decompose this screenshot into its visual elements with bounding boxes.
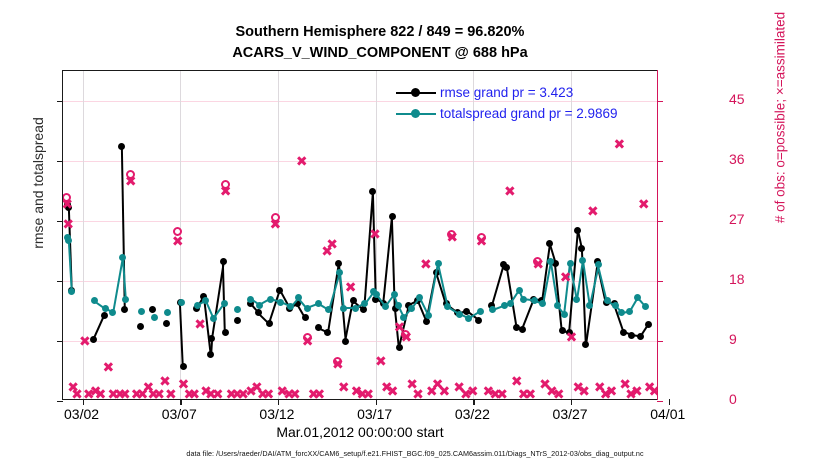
obs-assimilated-marker: ✖: [613, 139, 624, 150]
legend-marker-rmse: [396, 92, 436, 94]
obs-assimilated-marker: ✖: [566, 332, 577, 343]
obs-assimilated-marker: ✖: [188, 389, 199, 399]
totalspread-data-point: [164, 309, 171, 316]
totalspread-data-point: [456, 311, 463, 318]
totalspread-data-point: [626, 308, 633, 315]
rmse-data-point: [637, 333, 644, 340]
totalspread-data-point: [221, 300, 228, 307]
y-axis-tick-left: [57, 341, 63, 342]
obs-possible-marker: [173, 227, 182, 236]
obs-possible-marker: [333, 357, 342, 366]
obs-assimilated-marker: ✖: [338, 382, 349, 393]
rmse-data-point: [180, 363, 187, 370]
x-axis-tick-label: 03/02: [52, 406, 112, 422]
obs-assimilated-marker: ✖: [263, 389, 274, 399]
y-axis-tick-left: [57, 161, 63, 162]
rmse-data-point: [503, 264, 510, 271]
totalspread-data-point: [68, 288, 75, 295]
totalspread-data-point: [516, 287, 523, 294]
totalspread-data-point: [277, 299, 284, 306]
y-axis-label-right: # of obs: o=possible; ×=assimilated: [773, 0, 788, 258]
y-axis-tick-right: [657, 221, 663, 222]
rmse-data-point: [423, 318, 430, 325]
y-axis-tick-label-right: 9: [729, 331, 769, 347]
totalspread-data-point: [477, 308, 484, 315]
rmse-data-point: [324, 329, 331, 336]
horizontal-gridline: [63, 161, 657, 162]
totalspread-data-point: [267, 296, 274, 303]
series-line-segment: [122, 257, 127, 299]
chart-title: Southern Hemisphere 822 / 849 = 96.820% …: [0, 22, 760, 64]
obs-assimilated-marker: ✖: [369, 229, 380, 240]
obs-assimilated-marker: ✖: [511, 376, 522, 387]
rmse-data-point: [342, 338, 349, 345]
totalspread-data-point: [119, 254, 126, 261]
totalspread-data-point: [465, 315, 472, 322]
totalspread-data-point: [210, 315, 217, 322]
rmse-data-point: [276, 287, 283, 294]
totalspread-data-point: [507, 300, 514, 307]
totalspread-data-point: [352, 305, 359, 312]
obs-assimilated-marker: ✖: [553, 389, 564, 399]
totalspread-data-point: [554, 302, 561, 309]
rmse-data-point: [360, 306, 367, 313]
rmse-data-point: [207, 351, 214, 358]
y-axis-tick-left: [57, 101, 63, 102]
obs-assimilated-marker: ✖: [95, 389, 106, 399]
rmse-data-point: [222, 329, 229, 336]
legend-label: totalspread grand pr = 2.9869: [440, 106, 618, 121]
obs-possible-marker: [533, 257, 542, 266]
y-axis-tick-label-right: 45: [729, 91, 769, 107]
obs-assimilated-marker: ✖: [212, 389, 223, 399]
totalspread-data-point: [435, 260, 442, 267]
obs-assimilated-marker: ✖: [638, 199, 649, 210]
rmse-data-point: [101, 312, 108, 319]
totalspread-data-point: [586, 302, 593, 309]
y-axis-tick-label-right: 0: [729, 391, 769, 407]
obs-assimilated-marker: ✖: [467, 386, 478, 397]
vertical-gridline: [83, 71, 84, 399]
obs-assimilated-marker: ✖: [606, 386, 617, 397]
rmse-data-point: [645, 321, 652, 328]
x-axis-label: Mar.01,2012 00:00:00 start: [62, 424, 658, 440]
totalspread-data-point: [634, 294, 641, 301]
obs-assimilated-marker: ✖: [412, 389, 423, 399]
totalspread-data-point: [178, 299, 185, 306]
y-axis-tick-label-right: 27: [729, 211, 769, 227]
legend-entry: rmse grand pr = 3.423: [396, 82, 664, 103]
rmse-data-point: [463, 308, 470, 315]
series-line-segment: [222, 261, 226, 332]
totalspread-data-point: [547, 258, 554, 265]
totalspread-data-point: [361, 300, 368, 307]
obs-possible-marker: [126, 170, 135, 179]
y-axis-tick-left: [57, 281, 63, 282]
obs-assimilated-marker: ✖: [375, 356, 386, 367]
totalspread-data-point: [618, 309, 625, 316]
obs-assimilated-marker: ✖: [496, 389, 507, 399]
data-file-path: data file: /Users/raeder/DAI/ATM_forcXX/…: [0, 449, 830, 458]
x-axis-tick-label: 04/01: [638, 406, 698, 422]
x-axis-tick-label: 03/12: [247, 406, 307, 422]
obs-assimilated-marker: ✖: [79, 336, 90, 347]
rmse-data-point: [302, 314, 309, 321]
totalspread-data-point: [642, 303, 649, 310]
totalspread-data-point: [425, 312, 432, 319]
rmse-data-point: [315, 324, 322, 331]
obs-assimilated-marker: ✖: [439, 386, 450, 397]
rmse-data-point: [118, 143, 125, 150]
obs-assimilated-marker: ✖: [504, 186, 515, 197]
obs-assimilated-marker: ✖: [587, 206, 598, 217]
totalspread-data-point: [391, 291, 398, 298]
obs-possible-marker: [477, 233, 486, 242]
chart-screenshot: Southern Hemisphere 822 / 849 = 96.820% …: [0, 0, 830, 470]
totalspread-data-point: [561, 311, 568, 318]
obs-possible-marker: [271, 213, 280, 222]
rmse-data-point: [234, 317, 241, 324]
y-axis-tick-right: [657, 401, 663, 402]
y-axis-label-left: rmse and totalspread: [30, 73, 46, 293]
totalspread-data-point: [247, 296, 254, 303]
obs-assimilated-marker: ✖: [71, 389, 82, 399]
obs-assimilated-marker: ✖: [560, 272, 571, 283]
totalspread-data-point: [304, 305, 311, 312]
rmse-data-point: [208, 335, 215, 342]
totalspread-data-point: [336, 269, 343, 276]
totalspread-data-point: [234, 306, 241, 313]
rmse-data-point: [628, 332, 635, 339]
rmse-data-point: [335, 260, 342, 267]
obs-assimilated-marker: ✖: [345, 282, 356, 293]
totalspread-data-point: [65, 237, 72, 244]
obs-assimilated-marker: ✖: [296, 156, 307, 167]
totalspread-data-point: [91, 297, 98, 304]
obs-assimilated-marker: ✖: [387, 386, 398, 397]
obs-assimilated-marker: ✖: [326, 239, 337, 250]
rmse-data-point: [163, 320, 170, 327]
x-axis-tick: [473, 399, 474, 405]
series-line-segment: [328, 272, 340, 310]
totalspread-data-point: [408, 305, 415, 312]
obs-assimilated-marker: ✖: [649, 386, 657, 397]
legend-marker-totalspread: [396, 113, 436, 115]
totalspread-data-point: [194, 302, 201, 309]
obs-possible-marker: [221, 180, 230, 189]
obs-assimilated-marker: ✖: [362, 389, 373, 399]
obs-assimilated-marker: ✖: [578, 386, 589, 397]
series-line-segment: [491, 264, 504, 305]
totalspread-data-point: [340, 305, 347, 312]
rmse-data-point: [266, 320, 273, 327]
x-axis-tick: [180, 399, 181, 405]
vertical-gridline: [278, 71, 279, 399]
obs-assimilated-marker: ✖: [194, 319, 205, 330]
rmse-data-point: [578, 245, 585, 252]
x-axis-tick: [278, 399, 279, 405]
rmse-data-point: [519, 326, 526, 333]
rmse-data-point: [137, 323, 144, 330]
x-axis-tick: [83, 399, 84, 405]
x-axis-tick-label: 03/07: [149, 406, 209, 422]
rmse-data-point: [574, 227, 581, 234]
chart-title-line-2: ACARS_V_WIND_COMPONENT @ 688 hPa: [0, 43, 760, 64]
obs-assimilated-marker: ✖: [165, 389, 176, 399]
rmse-data-point: [220, 258, 227, 265]
totalspread-data-point: [287, 303, 294, 310]
rmse-data-point: [121, 306, 128, 313]
obs-assimilated-marker: ✖: [172, 236, 183, 247]
rmse-data-point: [546, 240, 553, 247]
rmse-data-point: [582, 341, 589, 348]
rmse-data-point: [255, 309, 262, 316]
totalspread-data-point: [595, 261, 602, 268]
obs-assimilated-marker: ✖: [153, 389, 164, 399]
rmse-data-point: [350, 297, 357, 304]
y-axis-tick-right: [657, 341, 663, 342]
x-axis-tick: [376, 399, 377, 405]
rmse-data-point: [389, 213, 396, 220]
totalspread-data-point: [109, 309, 116, 316]
y-axis-tick-right: [657, 281, 663, 282]
obs-assimilated-marker: ✖: [289, 389, 300, 399]
totalspread-data-point: [567, 260, 574, 267]
y-axis-tick-label-right: 36: [729, 151, 769, 167]
totalspread-data-point: [102, 305, 109, 312]
totalspread-data-point: [604, 297, 611, 304]
rmse-data-point: [90, 336, 97, 343]
y-axis-tick-left: [57, 221, 63, 222]
obs-assimilated-marker: ✖: [631, 386, 642, 397]
totalspread-data-point: [138, 308, 145, 315]
y-axis-tick-left: [57, 401, 63, 402]
totalspread-data-point: [489, 306, 496, 313]
totalspread-data-point: [122, 296, 129, 303]
totalspread-data-point: [579, 257, 586, 264]
obs-assimilated-marker: ✖: [63, 219, 73, 230]
series-line-segment: [506, 267, 517, 327]
series-line-segment: [112, 257, 123, 313]
legend-entry: totalspread grand pr = 2.9869: [396, 103, 664, 124]
totalspread-data-point: [573, 296, 580, 303]
horizontal-gridline: [63, 221, 657, 222]
totalspread-data-point: [295, 294, 302, 301]
x-axis-tick-label: 03/17: [345, 406, 405, 422]
totalspread-data-point: [382, 303, 389, 310]
totalspread-data-point: [612, 302, 619, 309]
x-axis-tick-label: 03/22: [442, 406, 502, 422]
obs-assimilated-marker: ✖: [420, 259, 431, 270]
chart-legend: rmse grand pr = 3.423totalspread grand p…: [390, 80, 668, 127]
rmse-data-point: [149, 306, 156, 313]
x-axis-tick-label: 03/27: [540, 406, 600, 422]
y-axis-tick-label-right: 18: [729, 271, 769, 287]
totalspread-data-point: [256, 302, 263, 309]
chart-title-line-1: Southern Hemisphere 822 / 849 = 96.820%: [0, 22, 760, 43]
obs-possible-marker: [303, 333, 312, 342]
obs-assimilated-marker: ✖: [525, 389, 536, 399]
rmse-data-point: [369, 188, 376, 195]
x-axis-tick: [571, 399, 572, 405]
rmse-data-point: [620, 329, 627, 336]
y-axis-tick-right: [657, 161, 663, 162]
totalspread-data-point: [539, 300, 546, 307]
obs-assimilated-marker: ✖: [159, 376, 170, 387]
totalspread-data-point: [520, 296, 527, 303]
legend-label: rmse grand pr = 3.423: [440, 85, 573, 100]
obs-assimilated-marker: ✖: [102, 362, 113, 373]
rmse-data-point: [475, 317, 482, 324]
obs-assimilated-marker: ✖: [313, 389, 324, 399]
totalspread-data-point: [395, 302, 402, 309]
totalspread-data-point: [151, 314, 158, 321]
x-axis-tick: [669, 399, 670, 405]
obs-assimilated-marker: ✖: [119, 389, 130, 399]
